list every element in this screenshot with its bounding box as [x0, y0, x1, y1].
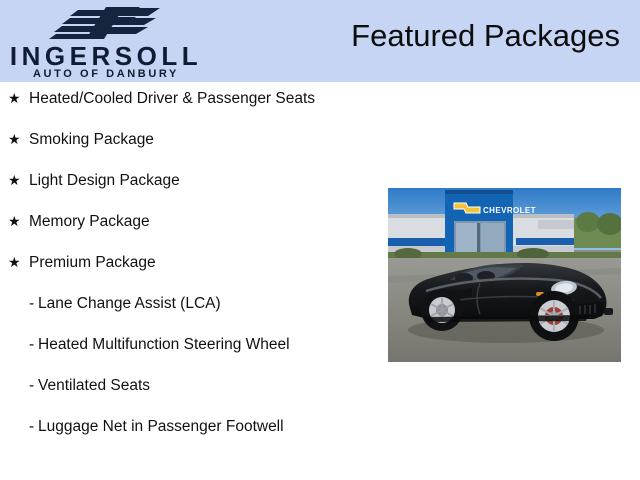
- header-band: INGERSOLL AUTO OF DANBURY Featured Packa…: [0, 0, 640, 82]
- feature-label: Premium Package: [29, 254, 156, 271]
- brand-wordmark: INGERSOLL: [0, 42, 212, 70]
- feature-item: ★Premium Package: [0, 252, 380, 273]
- feature-item: ★Smoking Package: [0, 129, 380, 150]
- feature-subitem: -Lane Change Assist (LCA): [0, 293, 380, 314]
- feature-label: Heated Multifunction Steering Wheel: [38, 336, 290, 353]
- brand-logo: INGERSOLL AUTO OF DANBURY: [0, 2, 212, 80]
- star-bullet-icon: ★: [8, 129, 21, 150]
- feature-list: ★Heated/Cooled Driver & Passenger Seats★…: [0, 88, 380, 457]
- feature-subitem: -Luggage Net in Passenger Footwell: [0, 416, 380, 437]
- feature-label: Smoking Package: [29, 131, 154, 148]
- feature-label: Heated/Cooled Driver & Passenger Seats: [29, 90, 315, 107]
- star-bullet-icon: ★: [8, 88, 21, 109]
- feature-item: ★Memory Package: [0, 211, 380, 232]
- brand-tagline: AUTO OF DANBURY: [0, 68, 212, 80]
- dash-bullet-icon: -: [29, 416, 34, 437]
- feature-item: ★Light Design Package: [0, 170, 380, 191]
- star-bullet-icon: ★: [8, 211, 21, 232]
- feature-item: ★Heated/Cooled Driver & Passenger Seats: [0, 88, 349, 109]
- page-title: Featured Packages: [351, 16, 620, 56]
- ingersoll-wing-emblem-icon: [48, 6, 164, 40]
- feature-label: Ventilated Seats: [38, 377, 150, 394]
- feature-label: Light Design Package: [29, 172, 180, 189]
- star-bullet-icon: ★: [8, 170, 21, 191]
- vehicle-photo: CHEVROLET: [388, 188, 621, 362]
- dash-bullet-icon: -: [29, 375, 34, 396]
- feature-label: Memory Package: [29, 213, 150, 230]
- feature-subitem: -Ventilated Seats: [0, 375, 380, 396]
- svg-text:CHEVROLET: CHEVROLET: [483, 206, 536, 215]
- feature-label: Luggage Net in Passenger Footwell: [38, 418, 284, 435]
- feature-label: Lane Change Assist (LCA): [38, 295, 221, 312]
- star-bullet-icon: ★: [8, 252, 21, 273]
- feature-subitem: -Heated Multifunction Steering Wheel: [0, 334, 380, 355]
- dash-bullet-icon: -: [29, 334, 34, 355]
- dash-bullet-icon: -: [29, 293, 34, 314]
